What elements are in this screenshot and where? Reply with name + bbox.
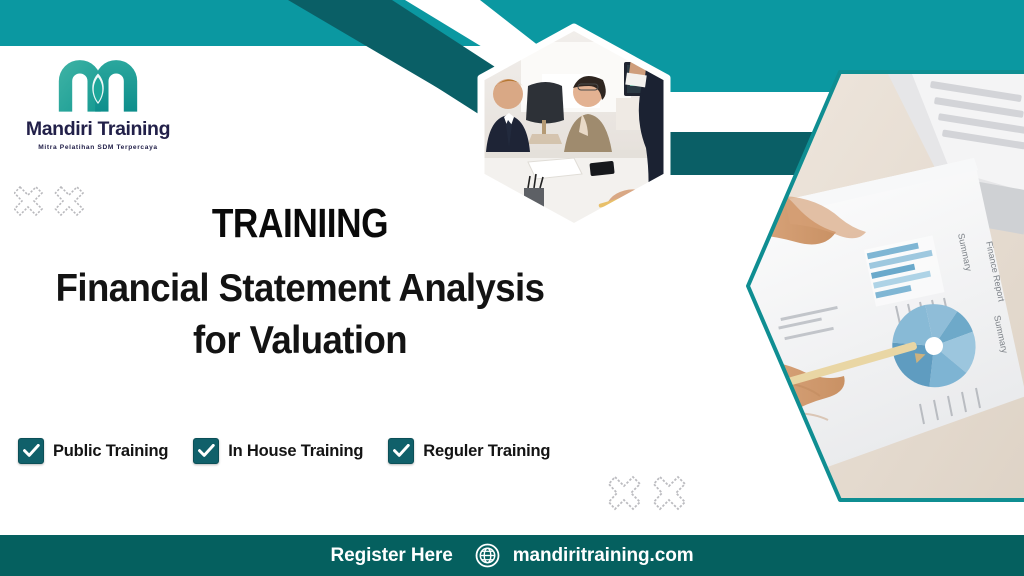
website-url[interactable]: mandiritraining.com	[513, 545, 694, 567]
option-in-house-training[interactable]: In House Training	[193, 438, 363, 464]
option-reguler-training[interactable]: Reguler Training	[388, 438, 550, 464]
flyer-canvas: Mandiri Training Mitra Pelatihan SDM Ter…	[0, 0, 1024, 576]
checkbox-in-house-training[interactable]	[193, 438, 219, 464]
website-block[interactable]: mandiritraining.com	[475, 543, 694, 568]
check-icon	[23, 444, 40, 458]
option-label: In House Training	[228, 442, 363, 461]
check-icon	[198, 444, 215, 458]
globe-icon	[475, 543, 500, 568]
option-label: Public Training	[53, 442, 168, 461]
headline-line-2: for Valuation	[15, 315, 585, 367]
checkbox-reguler-training[interactable]	[388, 438, 414, 464]
register-here-label[interactable]: Register Here	[331, 545, 453, 567]
checkbox-public-training[interactable]	[18, 438, 44, 464]
meeting-photo-hexagon	[466, 22, 682, 232]
footer-bar: Register Here mandiritraining.com	[0, 535, 1024, 576]
x-pattern-right	[608, 470, 694, 521]
x-cross-pattern-icon	[608, 470, 694, 516]
headline-line-1: Financial Statement Analysis	[15, 263, 585, 315]
check-icon	[393, 444, 410, 458]
training-options-row: Public Training In House Training Regule…	[18, 438, 550, 464]
headline-main: Financial Statement Analysis for Valuati…	[15, 263, 585, 368]
option-public-training[interactable]: Public Training	[18, 438, 168, 464]
option-label: Reguler Training	[423, 442, 550, 461]
financial-report-photo-hexagon: Finance Report Summary Summary	[744, 66, 1024, 506]
